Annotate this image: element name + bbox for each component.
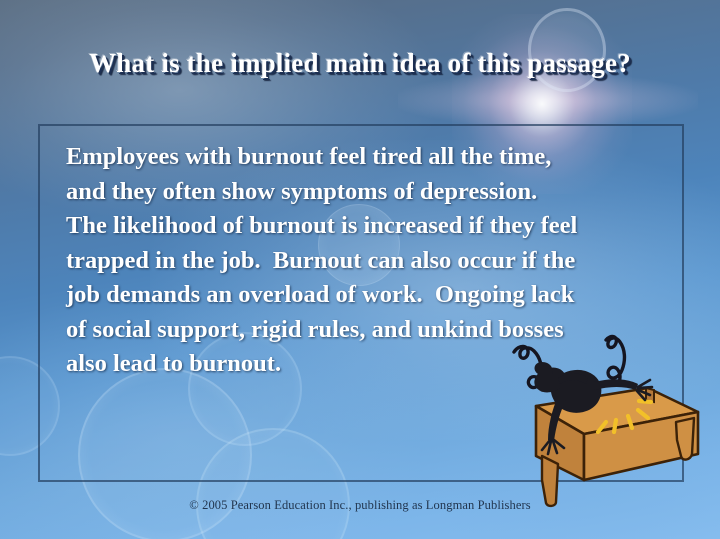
- lens-flare-streak: [398, 74, 698, 126]
- passage-line: trapped in the job. Burnout can also occ…: [66, 244, 678, 279]
- passage-line: of social support, rigid rules, and unki…: [66, 313, 678, 348]
- passage-line: job demands an overload of work. Ongoing…: [66, 278, 678, 313]
- copyright-footer: © 2005 Pearson Education Inc., publishin…: [0, 498, 720, 513]
- slide-canvas: What is the implied main idea of this pa…: [0, 0, 720, 539]
- slide-title: What is the implied main idea of this pa…: [0, 48, 720, 79]
- passage-line: The likelihood of burnout is increased i…: [66, 209, 678, 244]
- passage-text: Employees with burnout feel tired all th…: [66, 140, 678, 382]
- passage-line: also lead to burnout.: [66, 347, 678, 382]
- passage-line: and they often show symptoms of depressi…: [66, 175, 678, 210]
- passage-line: Employees with burnout feel tired all th…: [66, 140, 678, 175]
